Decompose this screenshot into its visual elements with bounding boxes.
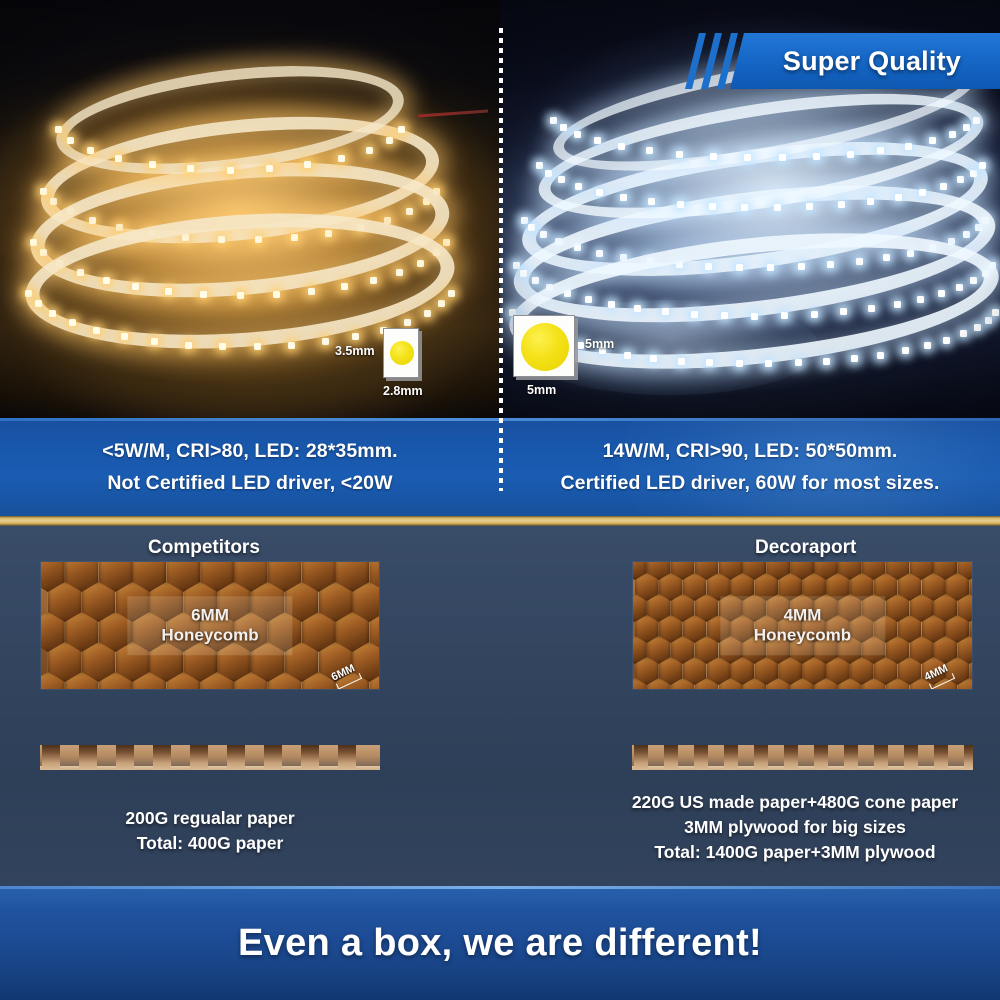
chip-5050-width-label: 5mm bbox=[527, 383, 556, 397]
decoraport-title: Decoraport bbox=[755, 537, 856, 559]
decoraport-honeycomb-label: 4MM Honeycomb bbox=[720, 596, 885, 655]
spec-left-line-2: Not Certified LED driver, <20W bbox=[107, 472, 392, 495]
competitors-title: Competitors bbox=[148, 537, 260, 559]
honeycomb-flute bbox=[874, 745, 888, 770]
honeycomb-flute bbox=[301, 745, 319, 770]
honeycomb-flute bbox=[190, 745, 208, 770]
honeycomb-flute bbox=[153, 745, 171, 770]
honeycomb-flute bbox=[904, 745, 918, 770]
honeycomb-flute bbox=[338, 745, 356, 770]
competitor-honeycomb-cross-section bbox=[40, 745, 380, 770]
strip-base bbox=[632, 766, 973, 770]
decoraport-honeycomb-image: 4MM Honeycomb 4MM bbox=[632, 561, 973, 690]
banner-slogan: Even a box, we are different! bbox=[238, 922, 762, 965]
decoraport-desc-line-1: 220G US made paper+480G cone paper bbox=[590, 790, 1000, 815]
spec-right-line-2: Certified LED driver, 60W for most sizes… bbox=[560, 472, 939, 495]
vertical-dotted-divider bbox=[499, 28, 503, 491]
led-chip-5050-callout: 5mm 5mm bbox=[513, 315, 575, 377]
decoraport-desc-line-2: 3MM plywood for big sizes bbox=[590, 815, 1000, 840]
competitor-description: 200G regualar paper Total: 400G paper bbox=[0, 806, 420, 856]
honeycomb-flute bbox=[844, 745, 858, 770]
honeycomb-flute bbox=[934, 745, 948, 770]
competitor-honeycomb-label: 6MM Honeycomb bbox=[127, 596, 292, 655]
super-quality-badge: Super Quality bbox=[730, 33, 1000, 89]
honeycomb-flute bbox=[724, 745, 738, 770]
honeycomb-flute bbox=[814, 745, 828, 770]
warm-photo-vignette bbox=[0, 0, 500, 418]
warm-white-led-photo bbox=[0, 0, 500, 418]
honeycomb-flute bbox=[664, 745, 678, 770]
chip-5050-height-label: 5mm bbox=[585, 337, 614, 351]
banner-top-rule bbox=[0, 886, 1000, 889]
competitor-honeycomb-size: 6MM bbox=[161, 605, 258, 626]
decoraport-desc-line-3: Total: 1400G paper+3MM plywood bbox=[590, 840, 1000, 865]
spec-column-decoraport: 14W/M, CRI>90, LED: 50*50mm. Certified L… bbox=[500, 418, 1000, 516]
honeycomb-flute bbox=[754, 745, 768, 770]
honeycomb-flute bbox=[116, 745, 134, 770]
honeycomb-flute bbox=[264, 745, 282, 770]
bottom-banner: Even a box, we are different! bbox=[0, 886, 1000, 1000]
phosphor-dot-icon bbox=[390, 341, 414, 365]
competitor-desc-line-2: Total: 400G paper bbox=[0, 831, 420, 856]
honeycomb-flute bbox=[227, 745, 245, 770]
led-chip-5050-icon bbox=[513, 315, 575, 377]
honeycomb-flute bbox=[694, 745, 708, 770]
spec-right-line-1: 14W/M, CRI>90, LED: 50*50mm. bbox=[603, 440, 898, 463]
honeycomb-flute bbox=[784, 745, 798, 770]
led-chip-2835-callout: 3.5mm 2.8mm bbox=[383, 328, 419, 378]
gold-divider bbox=[0, 516, 1000, 526]
honeycomb-flute bbox=[79, 745, 97, 770]
chip-2835-width-label: 2.8mm bbox=[383, 384, 423, 398]
competitor-honeycomb-word: Honeycomb bbox=[161, 626, 258, 647]
led-chip-2835-icon bbox=[383, 328, 419, 378]
decoraport-honeycomb-size: 4MM bbox=[754, 605, 851, 626]
super-quality-label: Super Quality bbox=[783, 46, 961, 77]
spec-left-line-1: <5W/M, CRI>80, LED: 28*35mm. bbox=[102, 440, 397, 463]
honeycomb-flute bbox=[964, 745, 973, 770]
decoraport-honeycomb-cross-section bbox=[632, 745, 973, 770]
decoraport-description: 220G US made paper+480G cone paper 3MM p… bbox=[590, 790, 1000, 865]
competitor-honeycomb-image: 6MM Honeycomb 6MM bbox=[40, 561, 380, 690]
phosphor-dot-icon bbox=[521, 323, 569, 371]
spec-column-competitor: <5W/M, CRI>80, LED: 28*35mm. Not Certifi… bbox=[0, 418, 500, 516]
honeycomb-flute bbox=[634, 745, 648, 770]
decoraport-honeycomb-word: Honeycomb bbox=[754, 626, 851, 647]
competitor-desc-line-1: 200G regualar paper bbox=[0, 806, 420, 831]
infographic-page: Super Quality 3.5mm 2.8mm 5mm 5mm <5W/M,… bbox=[0, 0, 1000, 1000]
chip-2835-height-label: 3.5mm bbox=[335, 344, 375, 358]
honeycomb-flute bbox=[42, 745, 60, 770]
